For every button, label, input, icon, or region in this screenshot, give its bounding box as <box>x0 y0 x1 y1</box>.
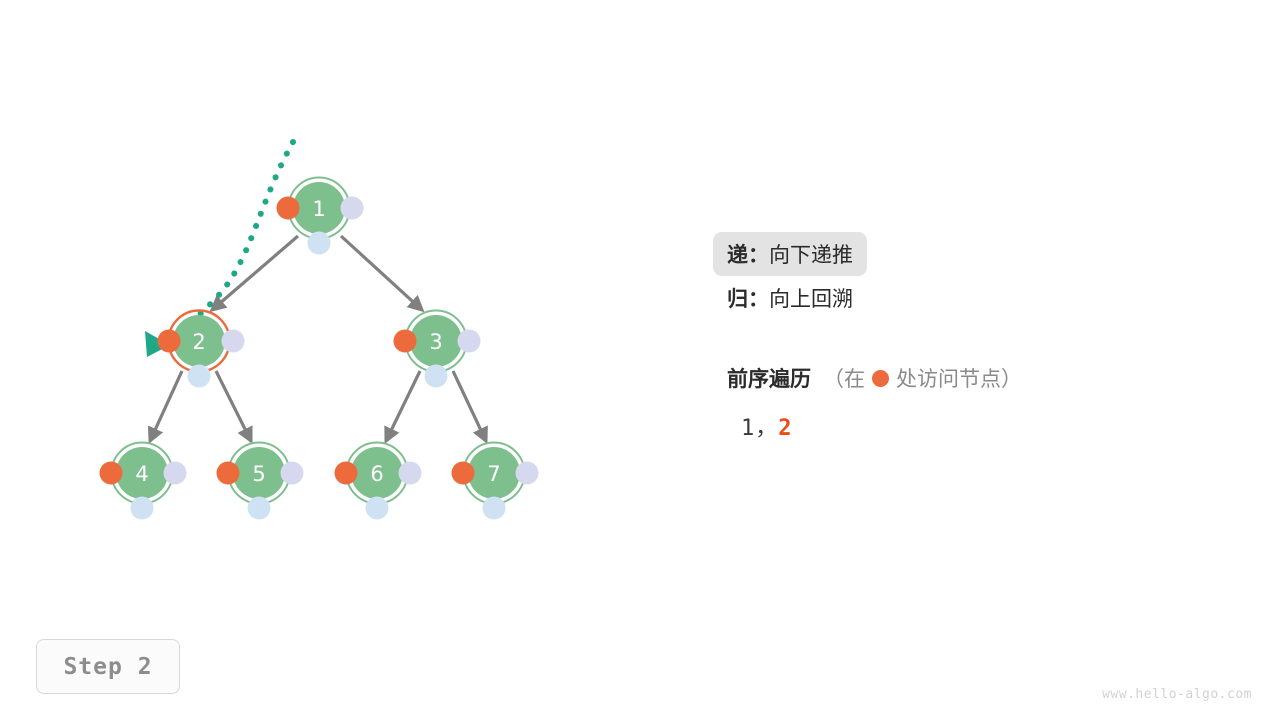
legend-row-recurse: 递： 向下递推 <box>713 232 867 276</box>
node-2-right-dot-lavender-icon <box>222 330 245 353</box>
traversal-note-before: （在 <box>823 363 865 393</box>
watermark: www.hello-algo.com <box>1102 687 1252 702</box>
node-7-bottom-dot-blue-icon <box>483 497 506 520</box>
node-3-left-dot-orange-icon <box>394 330 417 353</box>
node-3-bottom-dot-blue-icon <box>425 365 448 388</box>
node-1-left-dot-orange-icon <box>277 197 300 220</box>
legend-recurse-key: 递： <box>727 239 769 269</box>
node-5-right-dot-lavender-icon <box>281 462 304 485</box>
recursion-dotted-path <box>163 142 293 343</box>
node-7-right-dot-lavender-icon <box>516 462 539 485</box>
edge-3-7 <box>453 371 486 441</box>
legend-row-return: 归： 向上回溯 <box>713 276 1207 320</box>
watermark-text: www.hello-algo.com <box>1102 687 1252 702</box>
edge-3-6 <box>386 371 420 441</box>
legend-return-key: 归： <box>727 283 769 313</box>
tree-node-2[interactable]: 2 <box>158 311 245 388</box>
node-1-right-dot-lavender-icon <box>341 197 364 220</box>
legend-recurse-value: 向下递推 <box>769 239 853 269</box>
traversal-note-after: 处访问节点） <box>896 363 1022 393</box>
tree-node-6[interactable]: 6 <box>335 443 422 520</box>
node-5-left-dot-orange-icon <box>217 462 240 485</box>
node-2-bottom-dot-blue-icon <box>188 365 211 388</box>
node-2-label: 2 <box>192 330 205 354</box>
traversal-heading: 前序遍历 （在 处访问节点） <box>727 360 1247 396</box>
recursion-legend: 递： 向下递推 归： 向上回溯 <box>727 232 1207 320</box>
traversal-block: 前序遍历 （在 处访问节点） 1，2 <box>727 360 1247 442</box>
legend-return-value: 向上回溯 <box>769 283 853 313</box>
node-4-left-dot-orange-icon <box>100 462 123 485</box>
node-2-left-dot-orange-icon <box>158 330 181 353</box>
node-6-bottom-dot-blue-icon <box>366 497 389 520</box>
node-4-right-dot-lavender-icon <box>164 462 187 485</box>
node-4-label: 4 <box>135 462 148 486</box>
node-6-left-dot-orange-icon <box>335 462 358 485</box>
node-5-label: 5 <box>252 462 265 486</box>
step-badge: Step 2 <box>36 639 180 694</box>
sequence-visited: 1， <box>741 416 778 441</box>
traversal-sequence: 1，2 <box>741 410 1247 442</box>
node-5-bottom-dot-blue-icon <box>248 497 271 520</box>
node-7-label: 7 <box>487 462 500 486</box>
edge-1-2 <box>212 236 298 310</box>
tree-node-7[interactable]: 7 <box>452 443 539 520</box>
edge-1-3 <box>341 236 422 310</box>
node-7-left-dot-orange-icon <box>452 462 475 485</box>
tree-node-4[interactable]: 4 <box>100 443 187 520</box>
node-1-bottom-dot-blue-icon <box>308 232 331 255</box>
node-6-label: 6 <box>370 462 383 486</box>
traversal-title: 前序遍历 <box>727 363 811 393</box>
node-3-right-dot-lavender-icon <box>458 330 481 353</box>
node-6-right-dot-lavender-icon <box>399 462 422 485</box>
step-badge-label: Step 2 <box>63 654 152 680</box>
node-1-label: 1 <box>312 197 325 221</box>
node-3-label: 3 <box>429 330 442 354</box>
tree-node-5[interactable]: 5 <box>217 443 304 520</box>
sequence-current: 2 <box>778 416 792 441</box>
edge-2-5 <box>216 371 251 441</box>
orange-dot-icon <box>872 370 889 387</box>
node-4-bottom-dot-blue-icon <box>131 497 154 520</box>
tree-node-3[interactable]: 3 <box>394 311 481 388</box>
edge-2-4 <box>150 371 182 441</box>
